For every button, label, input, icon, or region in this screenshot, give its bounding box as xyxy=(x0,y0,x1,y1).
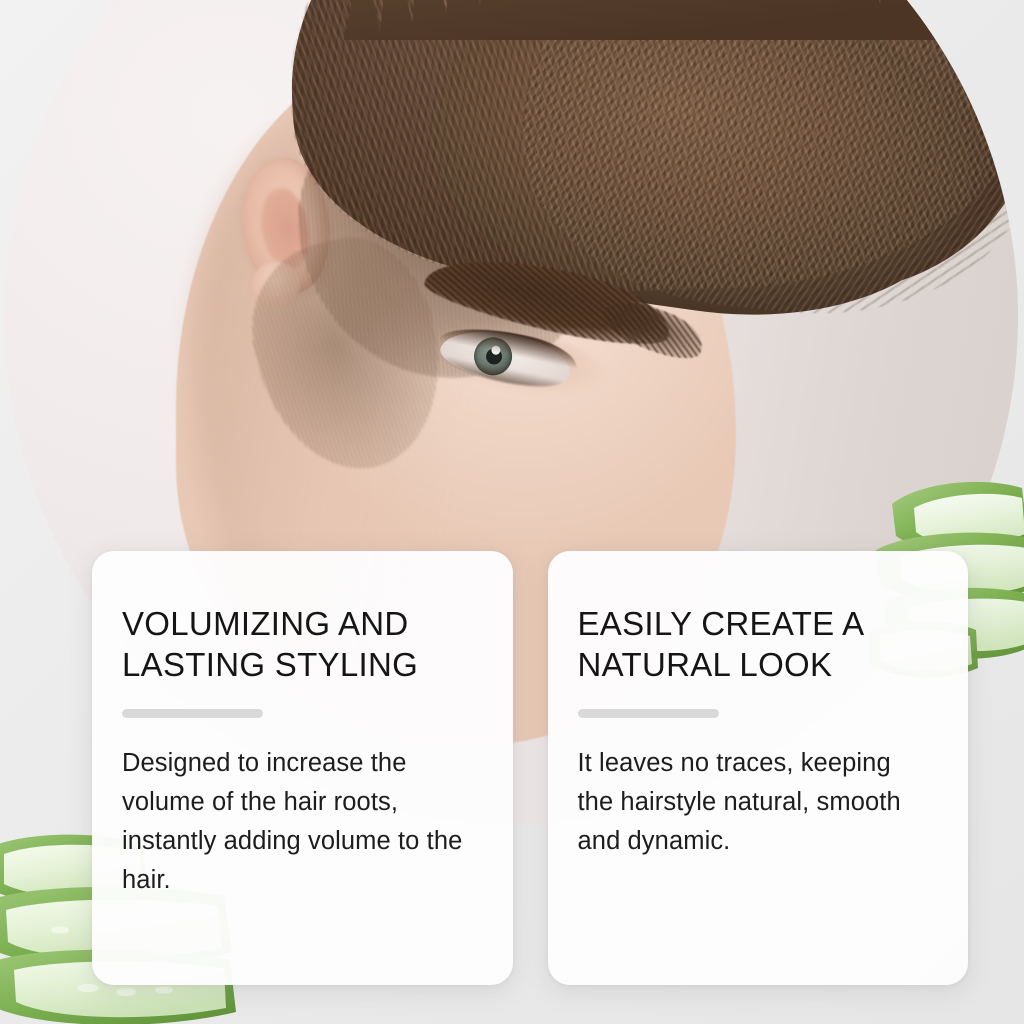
feature-card-natural-look[interactable]: EASILY CREATE A NATURAL LOOK It leaves n… xyxy=(548,551,969,985)
card-title: EASILY CREATE A NATURAL LOOK xyxy=(578,603,931,685)
hair-spikes xyxy=(284,0,1018,40)
card-body-text: Designed to increase the volume of the h… xyxy=(122,744,475,900)
product-feature-poster: VOLUMIZING AND LASTING STYLING Designed … xyxy=(0,0,1024,1024)
card-title: VOLUMIZING AND LASTING STYLING xyxy=(122,603,475,685)
card-divider-rule xyxy=(122,709,263,718)
feature-cards: VOLUMIZING AND LASTING STYLING Designed … xyxy=(92,551,968,985)
feature-card-volumizing[interactable]: VOLUMIZING AND LASTING STYLING Designed … xyxy=(92,551,513,985)
card-body-text: It leaves no traces, keeping the hairsty… xyxy=(578,744,931,861)
card-divider-rule xyxy=(578,709,719,718)
